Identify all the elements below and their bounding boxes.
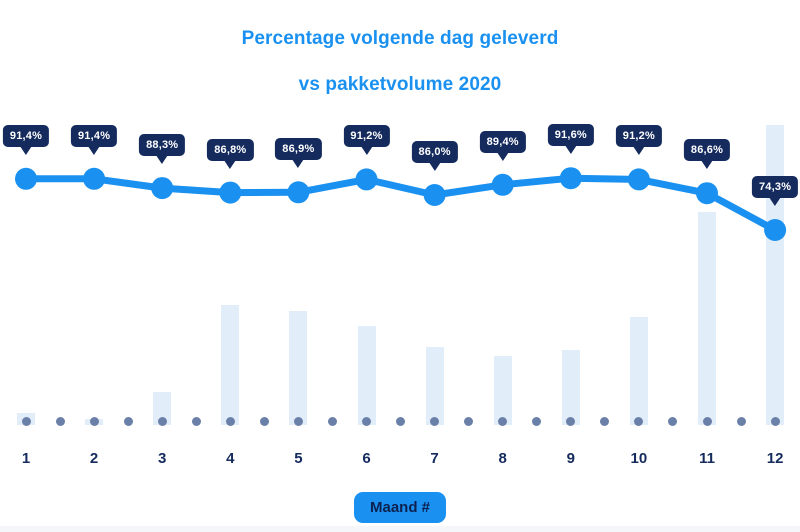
data-label-month-10: 91,2% — [616, 125, 662, 147]
data-label-month-4: 86,8% — [207, 139, 253, 161]
x-axis-title-wrap: Maand # — [0, 492, 800, 523]
data-label-month-8: 89,4% — [480, 131, 526, 153]
x-tick-12: 12 — [767, 450, 784, 467]
chart-title-line-1: Percentage volgende dag geleverd — [242, 28, 559, 49]
x-axis-ticks: 123456789101112 — [0, 450, 800, 480]
chart-container: Percentage volgende dag geleverd vs pakk… — [0, 0, 800, 532]
x-tick-5: 5 — [294, 450, 302, 467]
data-label-month-3: 88,3% — [139, 134, 185, 156]
data-label-month-11: 86,6% — [684, 139, 730, 161]
data-label-month-7: 86,0% — [411, 141, 457, 163]
x-tick-1: 1 — [22, 450, 30, 467]
data-labels: 91,4%91,4%88,3%86,8%86,9%91,2%86,0%89,4%… — [0, 60, 800, 430]
x-tick-2: 2 — [90, 450, 98, 467]
x-tick-9: 9 — [567, 450, 575, 467]
bottom-edge-strip — [0, 526, 800, 532]
data-label-month-1: 91,4% — [3, 125, 49, 147]
x-tick-10: 10 — [631, 450, 648, 467]
x-tick-8: 8 — [499, 450, 507, 467]
plot-area: 91,4%91,4%88,3%86,8%86,9%91,2%86,0%89,4%… — [0, 60, 800, 430]
x-tick-3: 3 — [158, 450, 166, 467]
x-tick-6: 6 — [362, 450, 370, 467]
x-tick-4: 4 — [226, 450, 234, 467]
x-tick-7: 7 — [430, 450, 438, 467]
data-label-month-2: 91,4% — [71, 125, 117, 147]
data-label-month-9: 91,6% — [548, 124, 594, 146]
x-tick-11: 11 — [699, 450, 715, 467]
data-label-month-6: 91,2% — [343, 125, 389, 147]
data-label-month-5: 86,9% — [275, 138, 321, 160]
x-axis-title-badge[interactable]: Maand # — [354, 492, 446, 523]
data-label-month-12: 74,3% — [752, 176, 798, 198]
